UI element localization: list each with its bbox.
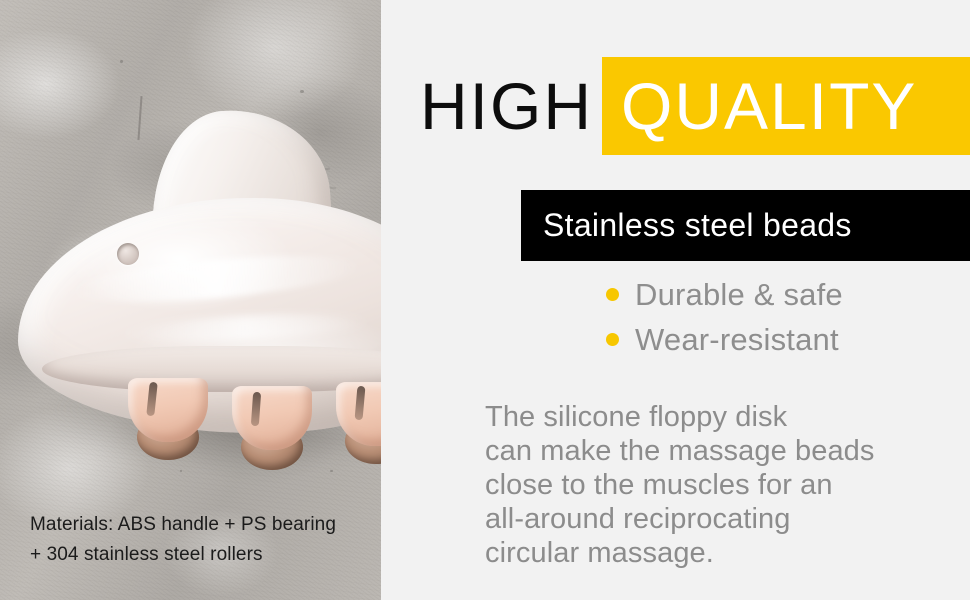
concrete-speck	[300, 90, 304, 93]
feature-band: Stainless steel beads	[521, 190, 970, 261]
concrete-speck	[120, 60, 123, 63]
headline-word-quality: QUALITY	[621, 69, 917, 143]
bullet-label: Wear-resistant	[635, 322, 839, 358]
concrete-speck	[60, 300, 63, 303]
bullet-dot-icon	[606, 288, 619, 301]
concrete-speck	[180, 470, 182, 472]
list-item: Durable & safe	[606, 272, 843, 317]
concrete-speck	[330, 470, 333, 472]
product-banner: Materials: ABS handle + PS bearing + 304…	[0, 0, 970, 600]
content-panel: HIGH QUALITY Stainless steel beads Durab…	[381, 0, 970, 600]
concrete-speck	[250, 120, 252, 122]
headline-accent-box: QUALITY	[602, 57, 970, 155]
materials-caption: Materials: ABS handle + PS bearing + 304…	[30, 510, 380, 570]
description-paragraph: The silicone floppy disk can make the ma…	[485, 400, 955, 570]
bullet-label: Durable & safe	[635, 277, 843, 313]
headline-word-high: HIGH	[420, 73, 606, 139]
bullet-dot-icon	[606, 333, 619, 346]
headline: HIGH QUALITY	[420, 58, 970, 154]
list-item: Wear-resistant	[606, 317, 843, 362]
feature-bullet-list: Durable & safe Wear-resistant	[606, 272, 843, 362]
feature-band-label: Stainless steel beads	[521, 207, 852, 244]
